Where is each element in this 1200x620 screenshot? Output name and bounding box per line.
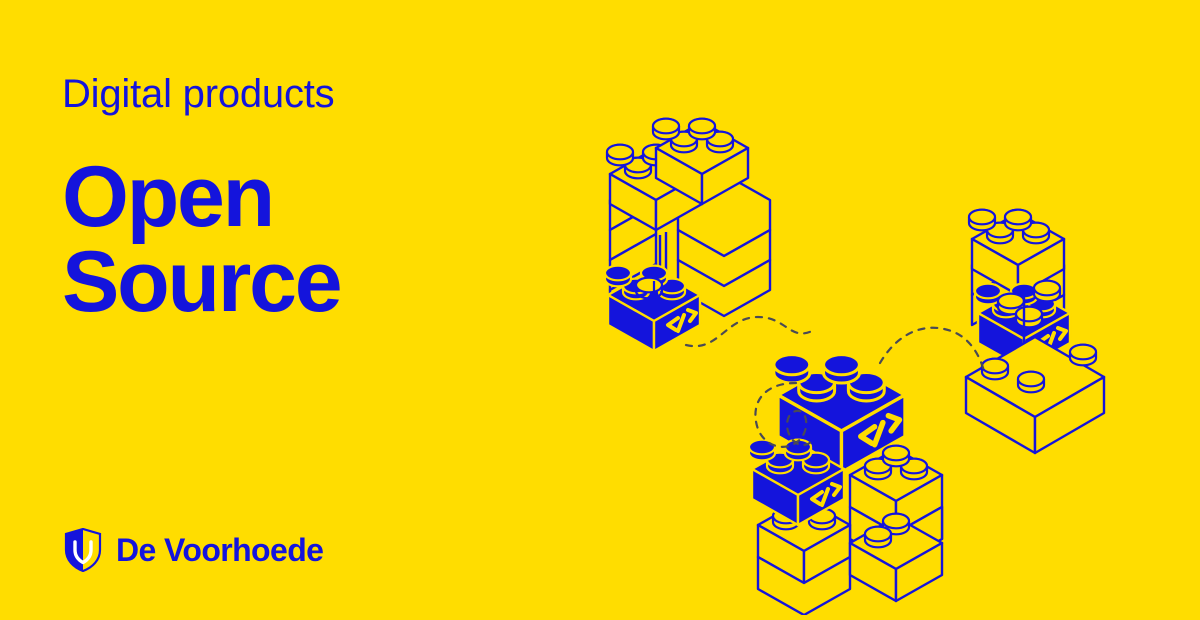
connector-center-to-right	[880, 328, 984, 371]
connector-left-to-center	[686, 317, 812, 346]
brand-lockup: De Voorhoede	[64, 528, 323, 572]
eyebrow-label: Digital products	[62, 72, 582, 117]
headline-line-1: Open	[62, 155, 582, 240]
hero-text-block: Digital products Open Source	[62, 72, 582, 325]
voorhoede-shield-icon	[64, 528, 102, 572]
brand-name: De Voorhoede	[116, 534, 323, 566]
lego-open-source-illustration	[600, 95, 1180, 615]
headline-line-2: Source	[62, 240, 582, 325]
lego-scene-svg	[600, 95, 1180, 615]
lego-cluster-top-right	[966, 210, 1104, 453]
poster-canvas: Digital products Open Source De Voorhoed…	[0, 0, 1200, 620]
lego-cluster-top-left	[605, 119, 770, 351]
page-title: Open Source	[62, 117, 582, 325]
